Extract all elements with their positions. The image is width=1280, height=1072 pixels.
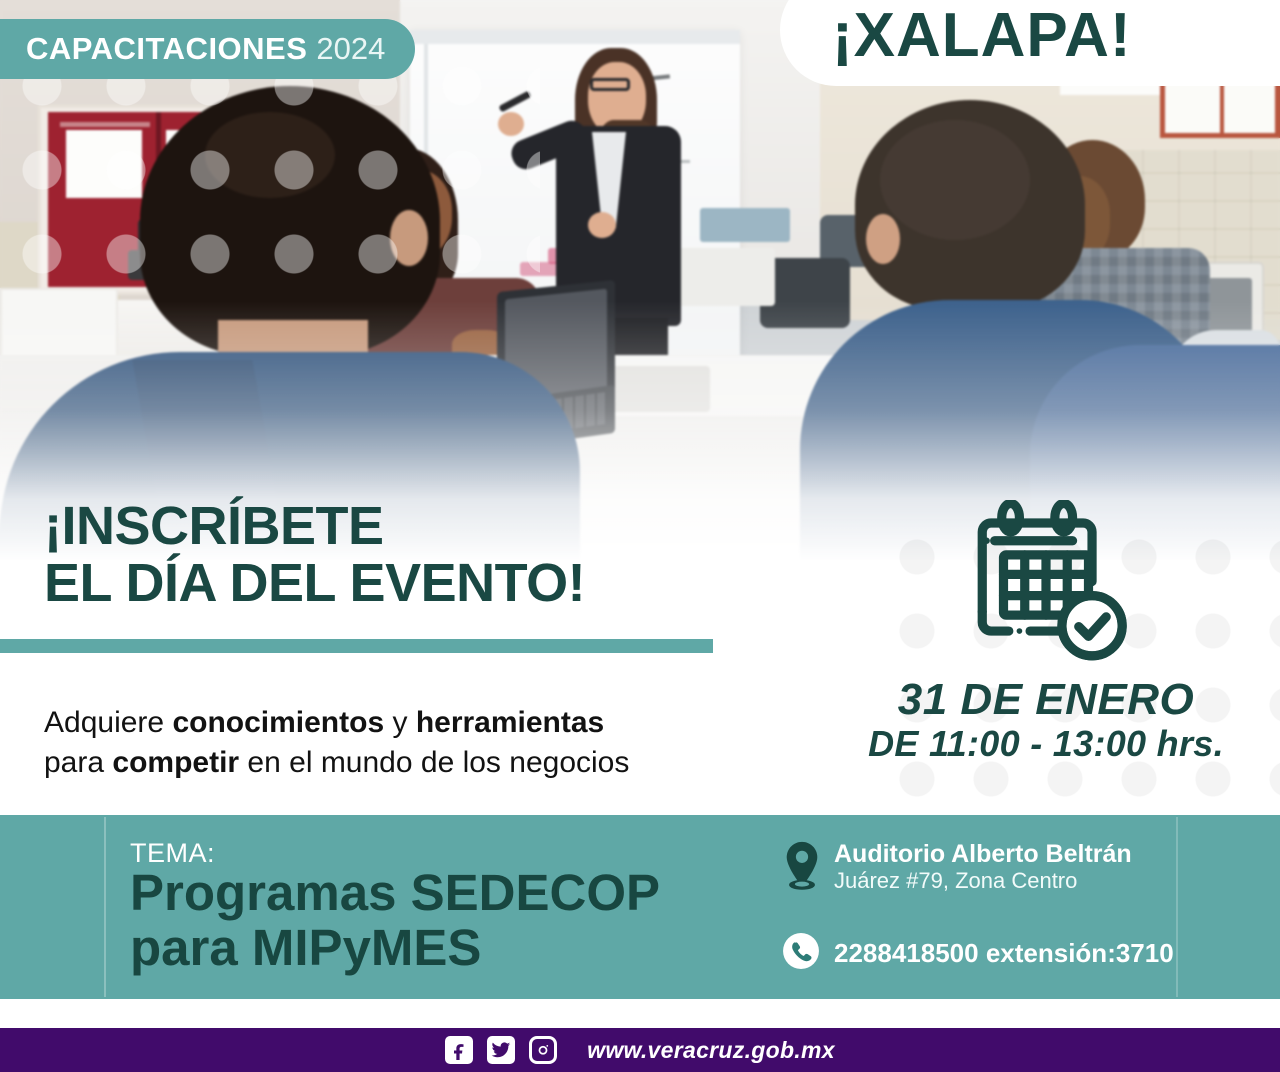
- city-badge: ¡XALAPA!: [780, 0, 1280, 86]
- headline-underline-rule: [0, 639, 713, 653]
- twitter-icon[interactable]: [487, 1036, 515, 1064]
- topic-title: Programas SEDECOP para MIPyMES: [130, 866, 660, 975]
- band-divider-right: [1176, 817, 1178, 997]
- band-divider-left: [104, 817, 106, 997]
- venue-info: Auditorio Alberto Beltrán Juárez #79, Zo…: [782, 840, 1132, 897]
- event-time: DE 11:00 - 13:00 hrs.: [856, 724, 1236, 764]
- headline: ¡INSCRÍBETE EL DÍA DEL EVENTO!: [44, 498, 585, 611]
- website-url[interactable]: www.veracruz.gob.mx: [587, 1037, 835, 1064]
- topic-title-line-2: para MIPyMES: [130, 921, 660, 976]
- event-date: 31 DE ENERO: [856, 676, 1236, 724]
- phone-number: 2288418500 extensión:3710: [834, 938, 1174, 969]
- subtext-1d: herramientas: [416, 706, 604, 739]
- phone-icon: [782, 932, 820, 975]
- venue-text: Auditorio Alberto Beltrán Juárez #79, Zo…: [834, 840, 1132, 894]
- subtext-1c: y: [384, 706, 416, 739]
- headline-line-2: EL DÍA DEL EVENTO!: [44, 555, 585, 612]
- date-block: 31 DE ENERO DE 11:00 - 13:00 hrs.: [856, 500, 1236, 763]
- venue-address: Juárez #79, Zona Centro: [834, 868, 1132, 894]
- headline-line-1: ¡INSCRÍBETE: [44, 496, 384, 556]
- contact-info: 2288418500 extensión:3710: [782, 932, 1174, 975]
- capacitaciones-year: 2024: [316, 31, 385, 67]
- calendar-check-icon: [856, 500, 1236, 670]
- subtext: Adquiere conocimientos y herramientas pa…: [44, 703, 629, 782]
- flyer-poster: CAPACITACIONES 2024 ¡XALAPA! ¡INSCRÍBETE…: [0, 0, 1280, 1072]
- topic-title-line-1: Programas SEDECOP: [130, 866, 660, 921]
- subtext-2b: competir: [112, 746, 239, 779]
- subtext-line-1: Adquiere conocimientos y herramientas: [44, 703, 629, 743]
- subtext-2c: en el mundo de los negocios: [239, 746, 629, 779]
- location-pin-icon: [782, 840, 822, 897]
- subtext-1a: Adquiere: [44, 706, 172, 739]
- city-badge-label: ¡XALAPA!: [832, 5, 1132, 67]
- subtext-line-2: para competir en el mundo de los negocio…: [44, 743, 629, 783]
- subtext-2a: para: [44, 746, 112, 779]
- capacitaciones-label: CAPACITACIONES: [26, 31, 307, 67]
- capacitaciones-badge: CAPACITACIONES 2024: [0, 19, 415, 79]
- instagram-icon[interactable]: [529, 1036, 557, 1064]
- facebook-icon[interactable]: [445, 1036, 473, 1064]
- subtext-1b: conocimientos: [172, 706, 384, 739]
- venue-name: Auditorio Alberto Beltrán: [834, 840, 1132, 868]
- footer-bar: www.veracruz.gob.mx: [0, 1028, 1280, 1072]
